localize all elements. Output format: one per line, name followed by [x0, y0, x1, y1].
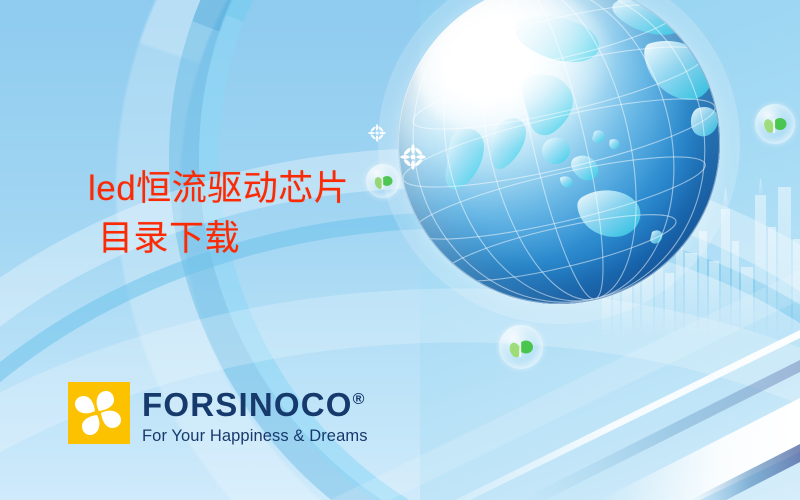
bubble-with-sprout-1	[366, 164, 400, 198]
headline-line-2: 目录下载	[88, 214, 349, 264]
bubble-with-sprout-3	[755, 104, 795, 144]
pinwheel-logo-icon	[68, 382, 130, 444]
banner-canvas: led恒流驱动芯片 目录下载 FORSINOCO® For Your Happi…	[0, 0, 800, 500]
sparkle-flower-icon-2	[368, 124, 386, 142]
logo-wordmark: FORSINOCO® For Your Happiness & Dreams	[142, 382, 368, 445]
headline-line-1: led恒流驱动芯片	[88, 169, 349, 208]
brand-tagline: For Your Happiness & Dreams	[142, 428, 368, 445]
brand-name: FORSINOCO®	[142, 388, 368, 421]
headline-text: led恒流驱动芯片 目录下载	[88, 164, 349, 263]
brand-name-text: FORSINOCO	[142, 386, 353, 423]
registered-trademark-icon: ®	[353, 391, 365, 408]
bubble-with-sprout-2	[499, 325, 543, 369]
sparkle-flower-icon-1	[400, 144, 426, 170]
company-logo[interactable]: FORSINOCO® For Your Happiness & Dreams	[68, 382, 368, 445]
